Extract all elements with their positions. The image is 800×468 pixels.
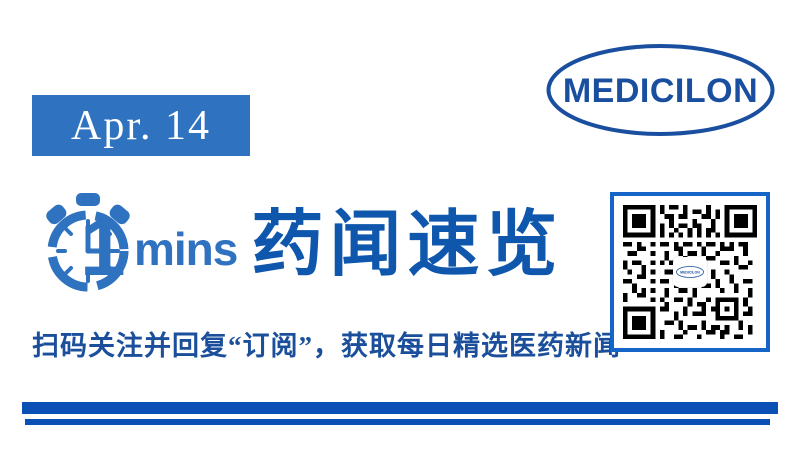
logo-wordmark: MEDICILON — [563, 72, 758, 110]
minutes-digit: 1 — [80, 207, 126, 289]
qr-logo-wordmark: MEDICILON — [680, 271, 700, 275]
qr-modules: MEDICILON — [623, 205, 757, 339]
date-badge-label: Apr. 14 — [71, 105, 211, 147]
headline-title: 药闻速览 — [251, 209, 563, 281]
medicilon-logo: MEDICILON — [545, 42, 776, 138]
qr-center-logo: MEDICILON — [673, 257, 707, 287]
onemins-lockup: 1 mins 药闻速览 — [36, 190, 563, 296]
date-badge: Apr. 14 — [32, 95, 250, 156]
stopwatch-icon: 1 — [36, 191, 140, 295]
minutes-unit-label: mins — [134, 226, 237, 272]
subtitle-text: 扫码关注并回复“订阅”，获取每日精选医药新闻 — [32, 324, 621, 363]
thick-divider — [22, 402, 778, 414]
logo-ellipse-icon: MEDICILON — [545, 42, 776, 138]
thin-divider — [25, 419, 770, 425]
qr-code[interactable]: MEDICILON — [610, 192, 770, 352]
news-banner: Apr. 14 MEDICILON — [0, 0, 800, 468]
